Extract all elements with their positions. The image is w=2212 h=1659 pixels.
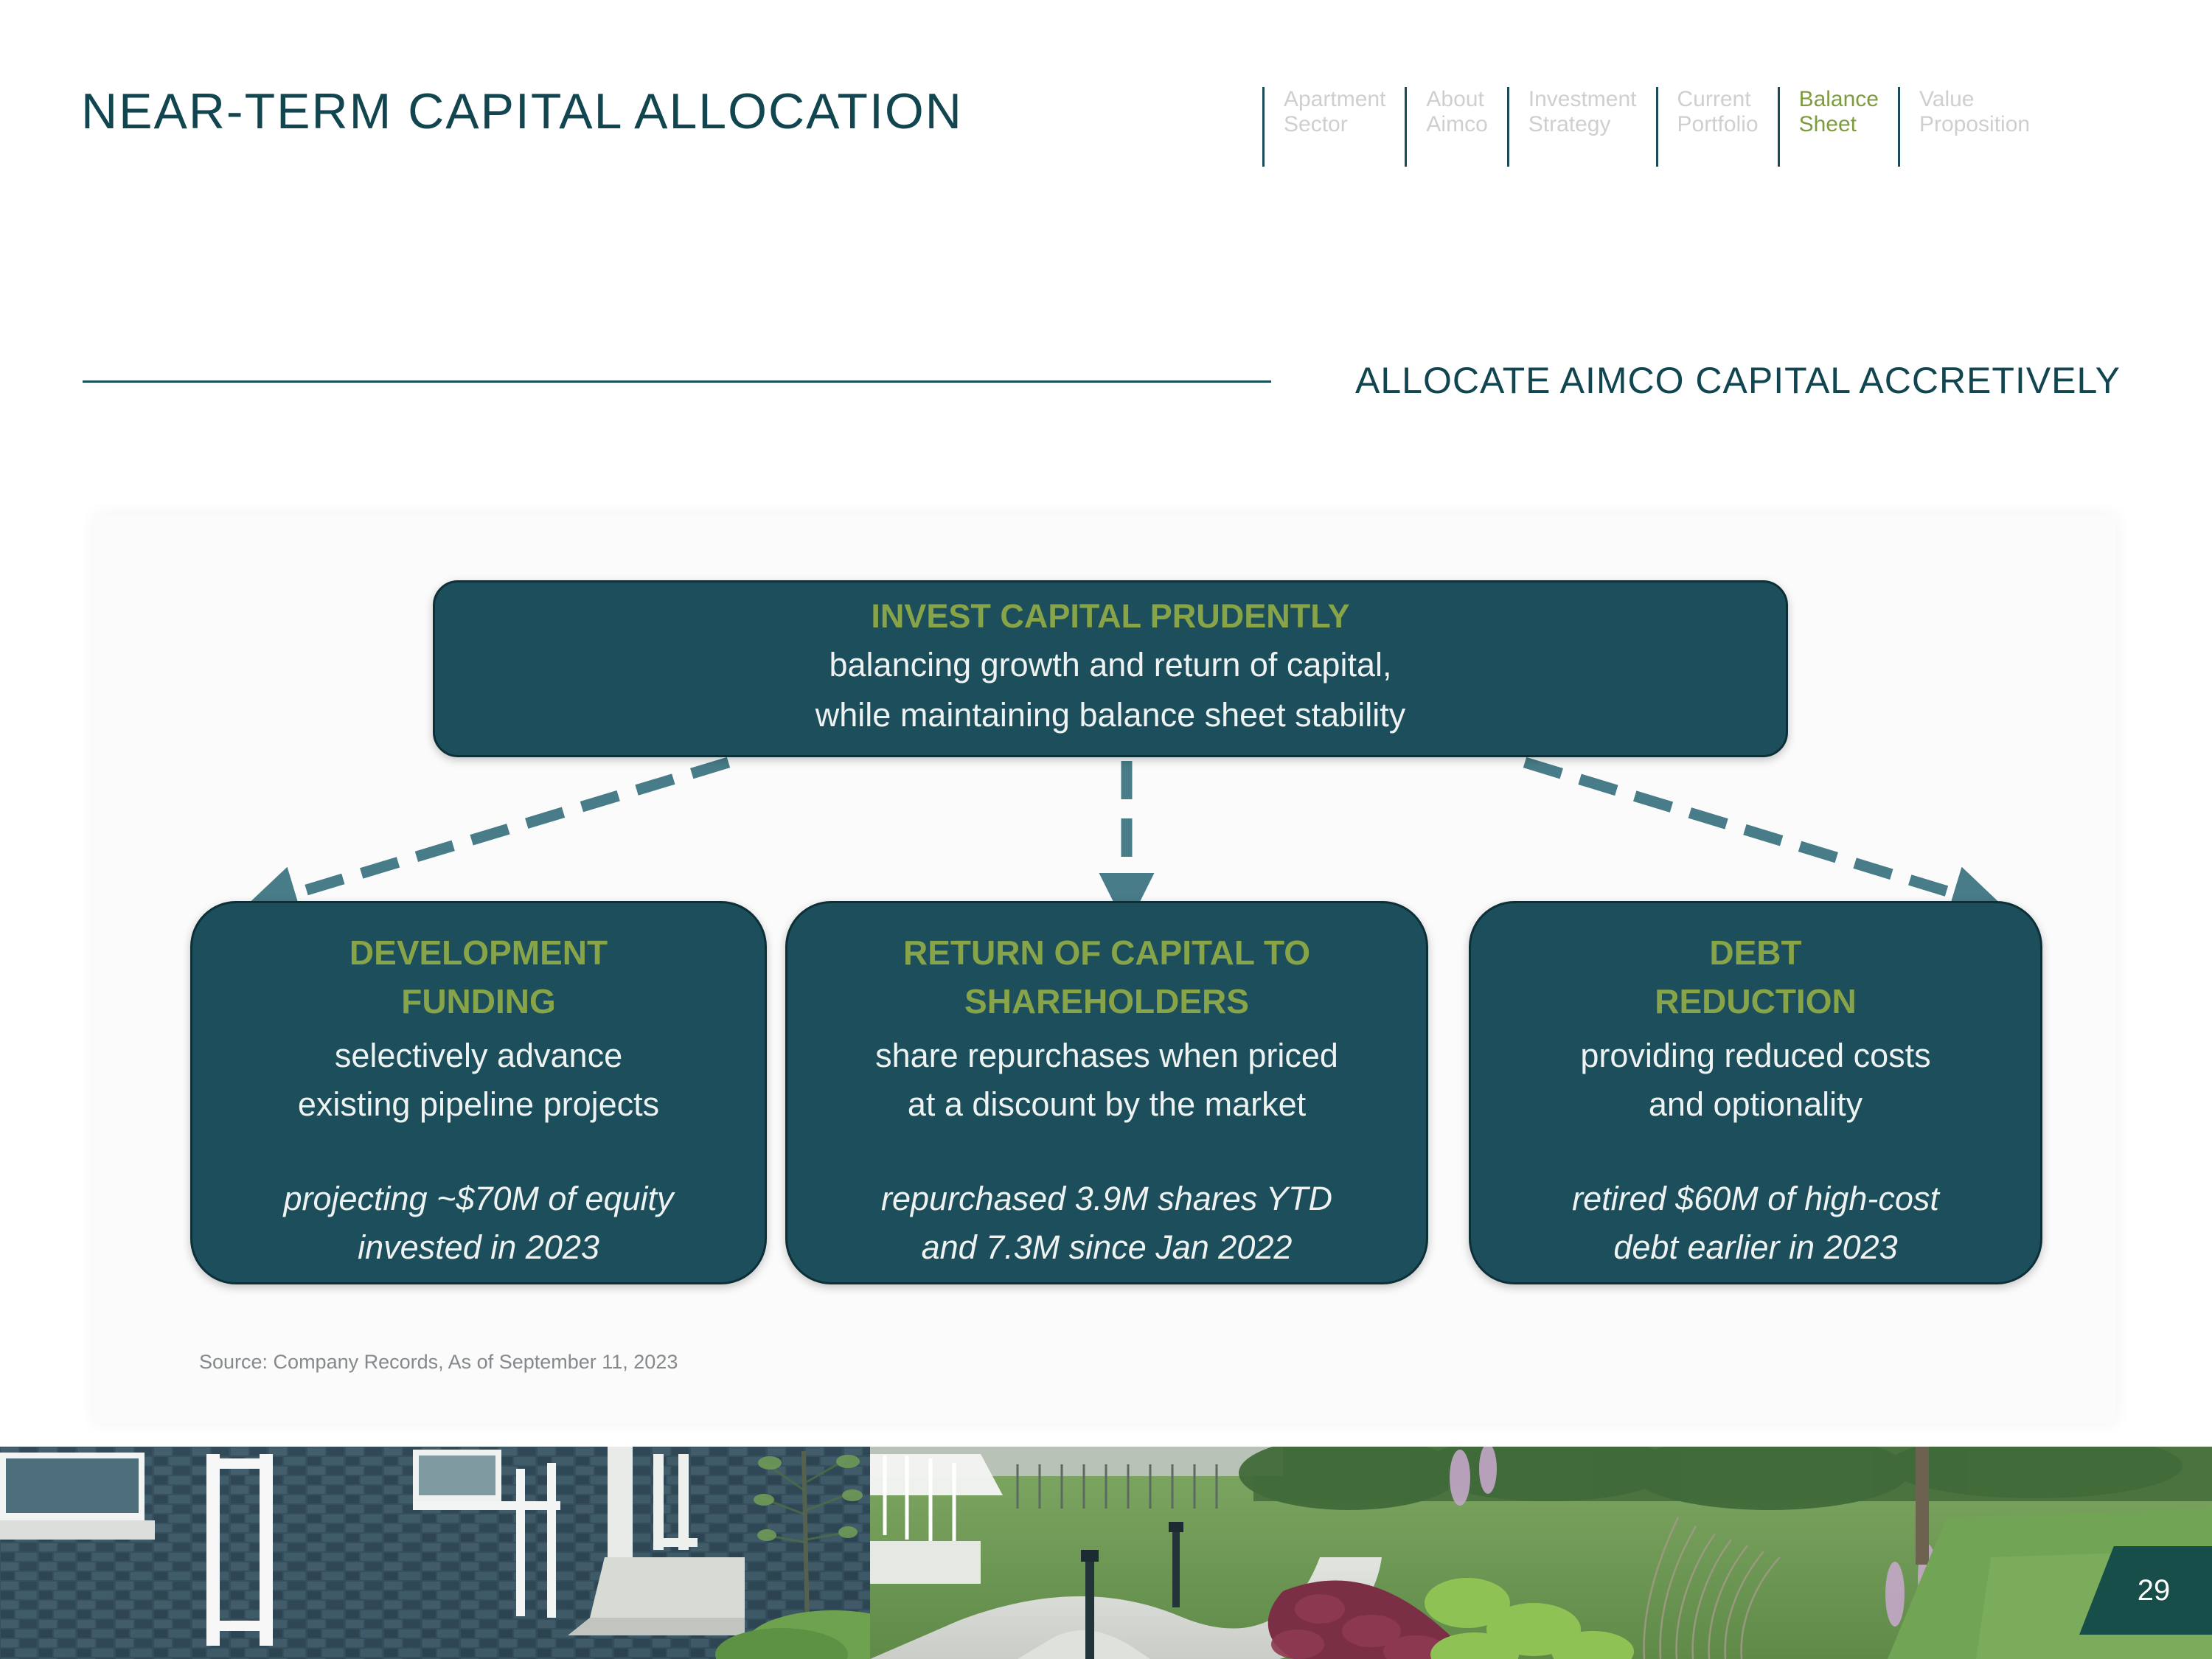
property-photo <box>0 1447 2212 1659</box>
nav-tab-label: Balance Sheet <box>1799 87 1879 137</box>
page-number: 29 <box>2121 1574 2171 1607</box>
nav-tab-value-proposition[interactable]: Value Proposition <box>1898 87 2049 167</box>
node-heading: RETURN OF CAPITAL TO SHAREHOLDERS <box>903 928 1310 1026</box>
node-stat-text: projecting ~$70M of equity invested in 2… <box>283 1175 673 1272</box>
node-body-text: share repurchases when priced at a disco… <box>875 1032 1338 1129</box>
nav-tab-investment-strategy[interactable]: Investment Strategy <box>1507 87 1656 167</box>
node-heading: DEVELOPMENT FUNDING <box>349 928 608 1026</box>
node-debt-reduction[interactable]: DEBT REDUCTION providing reduced costs a… <box>1469 901 2042 1284</box>
source-note: Source: Company Records, As of September… <box>199 1351 678 1374</box>
node-stat-text: retired $60M of high-cost debt earlier i… <box>1572 1175 1939 1272</box>
nav-tab-about-aimco[interactable]: About Aimco <box>1405 87 1506 167</box>
header-divider-rule <box>83 380 1271 383</box>
nav-tab-current-portfolio[interactable]: Current Portfolio <box>1656 87 1778 167</box>
node-body-text: balancing growth and return of capital, … <box>815 640 1405 740</box>
page-title: NEAR-TERM CAPITAL ALLOCATION <box>81 83 963 140</box>
node-return-of-capital-to-shareholders[interactable]: RETURN OF CAPITAL TO SHAREHOLDERS share … <box>785 901 1428 1284</box>
nav-tab-label: Investment Strategy <box>1528 87 1637 137</box>
nav-tab-label: About Aimco <box>1426 87 1487 137</box>
nav-tab-label: Apartment Sector <box>1284 87 1385 137</box>
section-nav: Apartment Sector About Aimco Investment … <box>1262 87 2049 167</box>
node-heading: INVEST CAPITAL PRUDENTLY <box>871 597 1349 636</box>
node-development-funding[interactable]: DEVELOPMENT FUNDING selectively advance … <box>190 901 767 1284</box>
nav-tab-label: Current Portfolio <box>1677 87 1759 137</box>
node-heading: DEBT REDUCTION <box>1655 928 1856 1026</box>
nav-tab-apartment-sector[interactable]: Apartment Sector <box>1262 87 1405 167</box>
nav-tab-label: Value Proposition <box>1919 87 2030 137</box>
node-body-text: selectively advance existing pipeline pr… <box>298 1032 659 1129</box>
nav-tab-balance-sheet[interactable]: Balance Sheet <box>1778 87 1898 167</box>
node-stat-text: repurchased 3.9M shares YTD and 7.3M sin… <box>881 1175 1332 1272</box>
node-body-text: providing reduced costs and optionality <box>1580 1032 1930 1129</box>
node-invest-capital-prudently[interactable]: INVEST CAPITAL PRUDENTLY balancing growt… <box>433 580 1788 757</box>
section-subtitle: ALLOCATE AIMCO CAPITAL ACCRETIVELY <box>1355 359 2121 402</box>
